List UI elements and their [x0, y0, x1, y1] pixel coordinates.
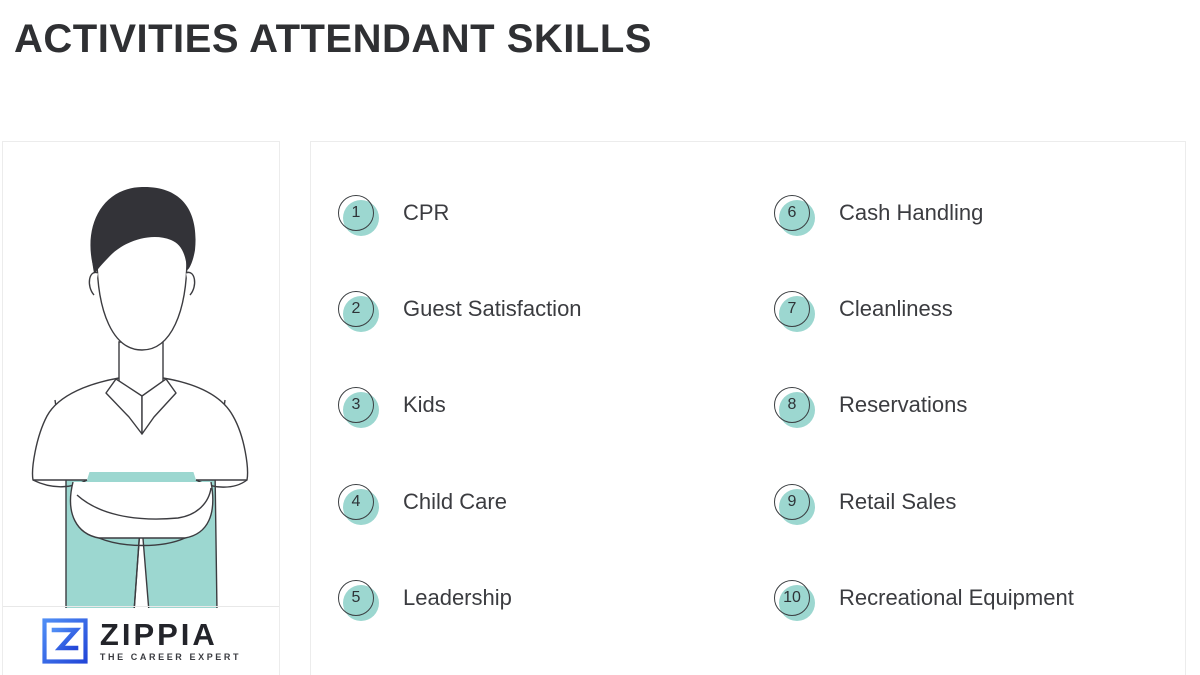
- badge-number: 8: [774, 387, 810, 423]
- skill-label: Child Care: [403, 483, 507, 521]
- skill-item[interactable]: 1 CPR: [338, 194, 749, 290]
- skill-item[interactable]: 10 Recreational Equipment: [774, 579, 1185, 675]
- skill-label: Leadership: [403, 579, 512, 617]
- skills-card: 1 CPR 2 Guest Satisfaction 3 Kids: [310, 141, 1186, 675]
- badge-number: 2: [338, 291, 374, 327]
- badge-number: 9: [774, 484, 810, 520]
- skill-label: Cash Handling: [839, 194, 983, 232]
- badge-number: 5: [338, 580, 374, 616]
- skill-number-badge: 9: [774, 484, 818, 528]
- skill-label: Recreational Equipment: [839, 579, 1074, 617]
- skill-item[interactable]: 4 Child Care: [338, 483, 749, 579]
- skill-label: Kids: [403, 386, 446, 424]
- badge-number: 7: [774, 291, 810, 327]
- skill-item[interactable]: 3 Kids: [338, 386, 749, 482]
- brand-tagline: THE CAREER EXPERT: [100, 651, 242, 663]
- skill-label: Reservations: [839, 386, 967, 424]
- skill-number-badge: 3: [338, 387, 382, 431]
- brand-name: ZIPPIA: [100, 619, 242, 651]
- skill-item[interactable]: 6 Cash Handling: [774, 194, 1185, 290]
- badge-number: 4: [338, 484, 374, 520]
- skill-label: Cleanliness: [839, 290, 953, 328]
- skill-number-badge: 10: [774, 580, 818, 624]
- skill-label: Retail Sales: [839, 483, 956, 521]
- skill-number-badge: 6: [774, 195, 818, 239]
- brand-logo[interactable]: ZIPPIA THE CAREER EXPERT: [3, 607, 280, 675]
- badge-number: 6: [774, 195, 810, 231]
- skill-item[interactable]: 7 Cleanliness: [774, 290, 1185, 386]
- skill-number-badge: 8: [774, 387, 818, 431]
- skill-item[interactable]: 9 Retail Sales: [774, 483, 1185, 579]
- zippia-z-mark-icon: [42, 618, 88, 664]
- skill-number-badge: 5: [338, 580, 382, 624]
- badge-number: 1: [338, 195, 374, 231]
- skills-column-right: 6 Cash Handling 7 Cleanliness 8 Reserva: [749, 142, 1185, 675]
- badge-number: 10: [774, 580, 810, 616]
- person-illustration-icon: [3, 142, 280, 608]
- skills-columns: 1 CPR 2 Guest Satisfaction 3 Kids: [311, 142, 1185, 675]
- skill-number-badge: 7: [774, 291, 818, 335]
- illustration-panel: ZIPPIA THE CAREER EXPERT: [2, 141, 280, 675]
- skill-label: Guest Satisfaction: [403, 290, 582, 328]
- skill-number-badge: 2: [338, 291, 382, 335]
- brand-text: ZIPPIA THE CAREER EXPERT: [100, 619, 242, 663]
- skills-column-left: 1 CPR 2 Guest Satisfaction 3 Kids: [311, 142, 749, 675]
- skill-number-badge: 1: [338, 195, 382, 239]
- skill-number-badge: 4: [338, 484, 382, 528]
- skill-item[interactable]: 5 Leadership: [338, 579, 749, 675]
- badge-number: 3: [338, 387, 374, 423]
- page-title: ACTIVITIES ATTENDANT SKILLS: [14, 14, 652, 64]
- skill-label: CPR: [403, 194, 449, 232]
- skill-item[interactable]: 2 Guest Satisfaction: [338, 290, 749, 386]
- skill-item[interactable]: 8 Reservations: [774, 386, 1185, 482]
